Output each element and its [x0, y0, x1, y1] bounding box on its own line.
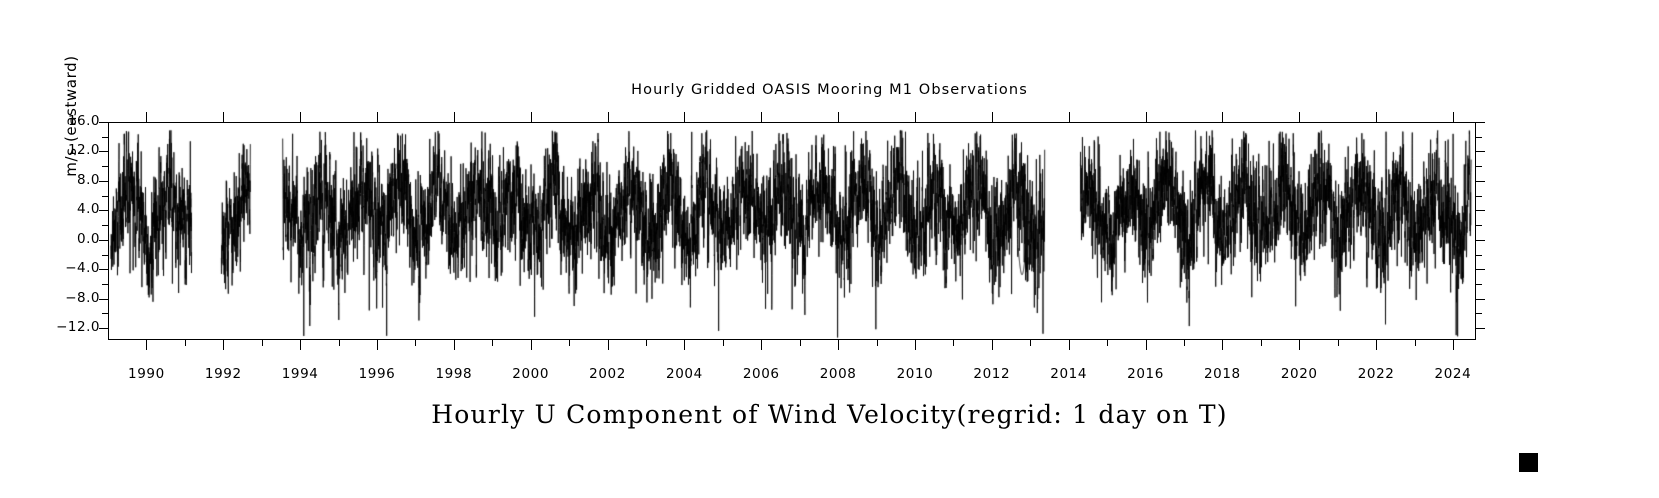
x-tick-label: 1996 [337, 366, 417, 382]
y-tick-label: −12.0 [28, 319, 100, 335]
x-tick-minor [339, 340, 340, 346]
x-tick-major-top [1299, 112, 1300, 122]
timeseries-line [109, 123, 1476, 340]
y-tick-label: −4.0 [28, 260, 100, 276]
x-tick-minor [415, 340, 416, 346]
y-tick-major-right [1476, 240, 1485, 241]
y-tick-label: 16.0 [28, 113, 100, 129]
x-tick-major [300, 340, 301, 350]
x-tick-minor [492, 340, 493, 346]
x-tick-major-top [1069, 112, 1070, 122]
x-tick-major [915, 340, 916, 350]
x-tick-minor [723, 340, 724, 346]
x-tick-major [454, 340, 455, 350]
y-tick-major-right [1476, 181, 1485, 182]
y-tick-major [99, 210, 108, 211]
y-tick-minor-right [1476, 313, 1482, 314]
x-tick-minor [185, 340, 186, 346]
x-tick-label: 2006 [721, 366, 801, 382]
x-tick-minor [800, 340, 801, 346]
x-tick-major [1146, 340, 1147, 350]
y-tick-minor-right [1476, 284, 1482, 285]
y-tick-major [99, 181, 108, 182]
x-tick-label: 2016 [1106, 366, 1186, 382]
x-tick-label: 2020 [1259, 366, 1339, 382]
x-tick-major [992, 340, 993, 350]
chart-caption: Hourly U Component of Wind Velocity(regr… [0, 400, 1659, 429]
x-tick-label: 1994 [260, 366, 340, 382]
x-tick-major-top [377, 112, 378, 122]
x-tick-major-top [761, 112, 762, 122]
x-tick-label: 2000 [491, 366, 571, 382]
x-tick-minor [262, 340, 263, 346]
x-tick-minor [569, 340, 570, 346]
x-tick-label: 2012 [952, 366, 1032, 382]
y-tick-label: 4.0 [28, 201, 100, 217]
y-tick-major [99, 122, 108, 123]
x-tick-major [608, 340, 609, 350]
y-tick-label: 8.0 [28, 172, 100, 188]
x-tick-major-top [454, 112, 455, 122]
x-tick-major [761, 340, 762, 350]
x-tick-major [1299, 340, 1300, 350]
x-tick-major [838, 340, 839, 350]
x-tick-label: 2014 [1029, 366, 1109, 382]
x-tick-major [531, 340, 532, 350]
x-tick-major [377, 340, 378, 350]
x-tick-major-top [1453, 112, 1454, 122]
x-tick-major-top [992, 112, 993, 122]
y-tick-minor-right [1476, 166, 1482, 167]
x-tick-minor [877, 340, 878, 346]
x-tick-major-top [1376, 112, 1377, 122]
y-tick-major [99, 328, 108, 329]
x-tick-major [1222, 340, 1223, 350]
x-tick-label: 2018 [1182, 366, 1262, 382]
x-tick-minor [646, 340, 647, 346]
x-tick-major-top [915, 112, 916, 122]
y-tick-major-right [1476, 151, 1485, 152]
x-tick-major [684, 340, 685, 350]
x-tick-label: 1990 [106, 366, 186, 382]
x-tick-major-top [838, 112, 839, 122]
x-tick-major [223, 340, 224, 350]
y-tick-major [99, 299, 108, 300]
x-tick-label: 1998 [414, 366, 494, 382]
x-tick-major-top [1222, 112, 1223, 122]
x-tick-major-top [1146, 112, 1147, 122]
x-tick-minor [1030, 340, 1031, 346]
y-tick-minor-right [1476, 196, 1482, 197]
y-tick-major-right [1476, 328, 1485, 329]
y-tick-major [99, 269, 108, 270]
y-tick-minor-right [1476, 255, 1482, 256]
x-tick-major [1069, 340, 1070, 350]
x-tick-label: 2002 [568, 366, 648, 382]
x-tick-major [1453, 340, 1454, 350]
x-tick-major-top [684, 112, 685, 122]
chart-title: Hourly Gridded OASIS Mooring M1 Observat… [0, 82, 1659, 98]
corner-marker-square [1519, 453, 1538, 472]
x-tick-minor [1184, 340, 1185, 346]
x-tick-major-top [608, 112, 609, 122]
y-tick-label: −8.0 [28, 290, 100, 306]
y-tick-label: 0.0 [28, 231, 100, 247]
figure-canvas: Hourly Gridded OASIS Mooring M1 Observat… [0, 0, 1659, 498]
x-tick-label: 2024 [1413, 366, 1493, 382]
x-tick-major-top [146, 112, 147, 122]
y-tick-minor-right [1476, 225, 1482, 226]
y-tick-minor-right [1476, 137, 1482, 138]
x-tick-minor [1338, 340, 1339, 346]
x-tick-label: 2022 [1336, 366, 1416, 382]
x-tick-minor [1261, 340, 1262, 346]
x-tick-major-top [531, 112, 532, 122]
x-tick-major [146, 340, 147, 350]
x-tick-minor [953, 340, 954, 346]
x-tick-label: 1992 [183, 366, 263, 382]
y-tick-major-right [1476, 210, 1485, 211]
y-tick-major [99, 151, 108, 152]
x-tick-minor [1107, 340, 1108, 346]
x-tick-label: 2010 [875, 366, 955, 382]
plot-area [108, 122, 1476, 340]
x-tick-label: 2008 [798, 366, 878, 382]
y-tick-major-right [1476, 122, 1485, 123]
x-tick-major [1376, 340, 1377, 350]
y-tick-major-right [1476, 299, 1485, 300]
y-tick-major [99, 240, 108, 241]
y-tick-major-right [1476, 269, 1485, 270]
x-tick-minor [1415, 340, 1416, 346]
x-tick-label: 2004 [644, 366, 724, 382]
x-tick-major-top [300, 112, 301, 122]
x-tick-major-top [223, 112, 224, 122]
y-tick-label: 12.0 [28, 142, 100, 158]
